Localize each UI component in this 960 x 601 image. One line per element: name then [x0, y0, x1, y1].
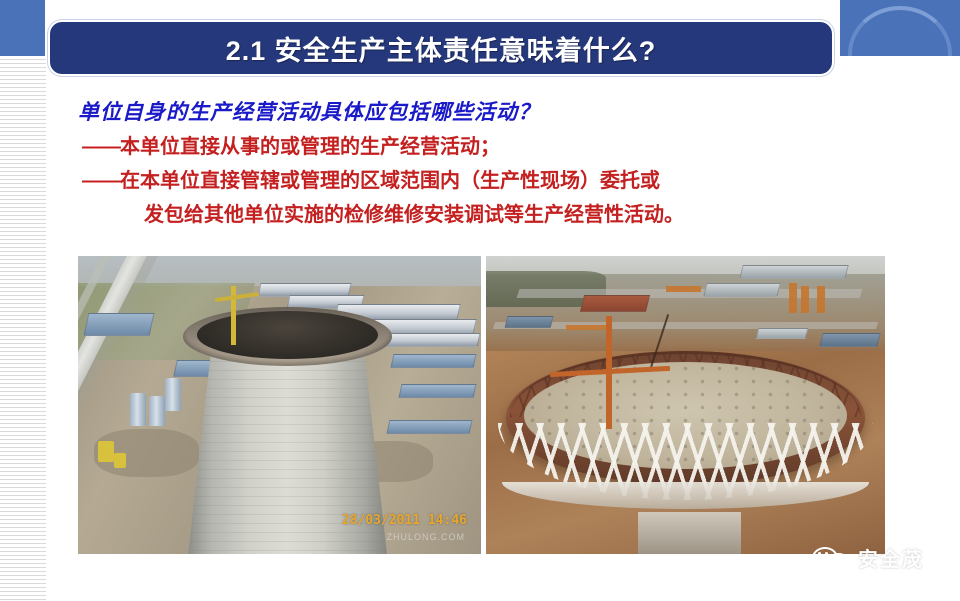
photo-cooling-tower-aerial: 28/03/2011 14:46 ZHULONG.COM: [78, 256, 481, 554]
wechat-icon: [812, 545, 852, 571]
photo-gantry-crane: [666, 286, 702, 292]
watermark: 安全茂: [812, 543, 924, 572]
bullet-text-2: 在本单位直接管辖或管理的区域范围内（生产性现场）委托或: [120, 170, 660, 192]
bullet-text-1: 本单位直接从事的或管理的生产经营活动；: [120, 136, 500, 158]
wechat-eye: [839, 558, 842, 561]
photo-tower-opening: [197, 311, 378, 359]
watermark-text: 安全茂: [858, 543, 924, 572]
bullet-item-1: ——本单位直接从事的或管理的生产经营活动；: [82, 130, 878, 164]
photo-gantry-crane: [801, 286, 809, 313]
photo-shed: [819, 333, 880, 347]
photo-shed: [504, 316, 553, 328]
photo-silo: [165, 378, 181, 411]
photo-building: [399, 384, 476, 398]
bullet-dash-2: ——: [82, 170, 120, 192]
slide-canvas: 2.1 安全生产主体责任意味着什么? 单位自身的生产经营活动具体应包括哪些活动？…: [0, 0, 960, 601]
wechat-eye: [818, 552, 821, 555]
photo-building: [387, 420, 473, 434]
photo-tower-foundation: [486, 256, 885, 554]
photo-building: [383, 333, 481, 347]
photo-machinery: [114, 453, 126, 468]
wechat-eye: [825, 552, 828, 555]
bullet-text-3: 发包给其他单位实施的检修维修安装调试等生产经营性活动。: [144, 204, 684, 226]
left-stripe-edge: [46, 56, 48, 601]
photo-gantry-crane: [817, 286, 825, 313]
page-title: 2.1 安全生产主体责任意味着什么?: [226, 29, 657, 68]
body-text-block: 单位自身的生产经营活动具体应包括哪些活动？ ——本单位直接从事的或管理的生产经营…: [78, 96, 878, 232]
photo-sitemark: ZHULONG.COM: [387, 532, 466, 542]
question-heading: 单位自身的生产经营活动具体应包括哪些活动？: [78, 96, 878, 130]
slide-title-bar: 2.1 安全生产主体责任意味着什么?: [48, 20, 834, 76]
photo-shed: [740, 265, 849, 279]
photo-shed: [756, 328, 809, 339]
photo-silo: [130, 393, 146, 426]
photo-gantry-crane: [566, 325, 606, 331]
bullet-item-3: 发包给其他单位实施的检修维修安装调试等生产经营性活动。: [144, 198, 878, 232]
photo-building: [391, 354, 477, 368]
left-stripe-band: [0, 56, 46, 601]
photo-building: [84, 313, 155, 336]
photo-shed: [704, 283, 781, 297]
photo-machinery: [98, 441, 114, 462]
corner-block-left: [0, 0, 45, 56]
bullet-item-2: ——在本单位直接管辖或管理的区域范围内（生产性现场）委托或: [82, 164, 878, 198]
photo-shed: [580, 295, 650, 312]
corner-block-right: [840, 0, 960, 56]
bullet-dash-1: ——: [82, 136, 120, 158]
photo-timestamp: 28/03/2011 14:46: [342, 513, 467, 528]
photo-gantry-crane: [789, 283, 797, 313]
arc-decoration-icon: [848, 6, 952, 56]
photo-culvert: [638, 512, 742, 554]
wechat-bubble-small: [827, 553, 850, 572]
wechat-eye: [832, 558, 835, 561]
photo-silo: [149, 396, 165, 426]
